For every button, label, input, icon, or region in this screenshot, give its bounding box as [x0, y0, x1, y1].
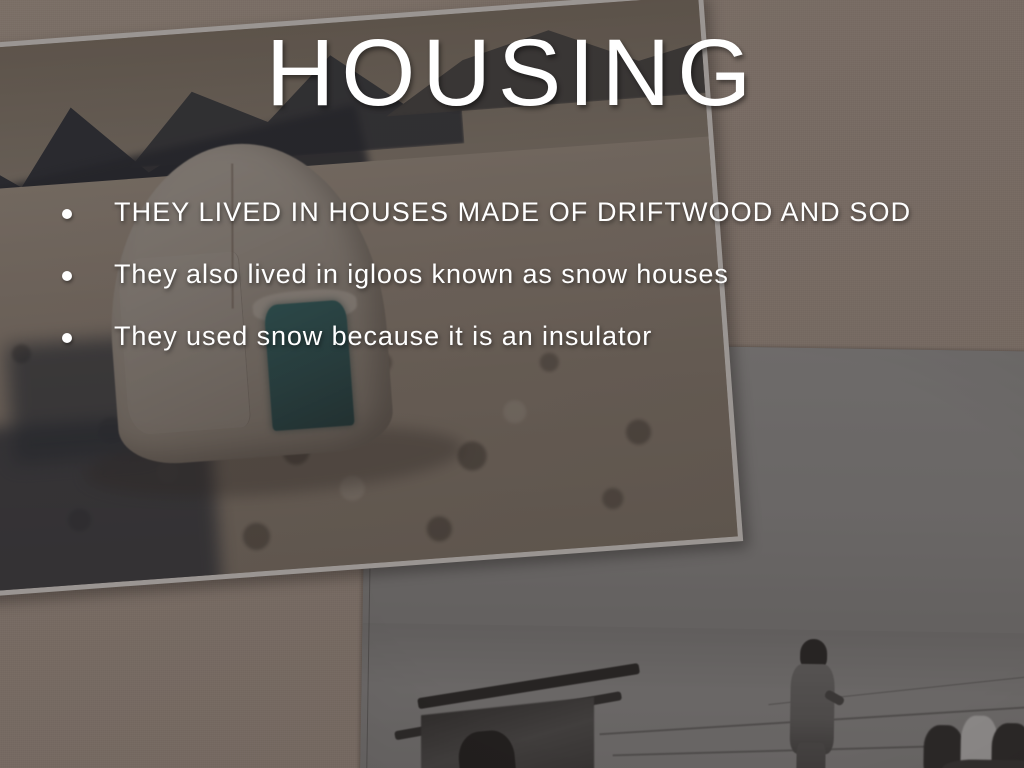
bullet-dot-icon — [62, 333, 72, 343]
list-item: They used snow because it is an insulato… — [62, 320, 1000, 354]
bullet-dot-icon — [62, 271, 72, 281]
list-item: They also lived in igloos known as snow … — [62, 258, 1000, 292]
slide-canvas: HOUSING THEY LIVED IN HOUSES MADE OF DRI… — [0, 0, 1024, 768]
slide-content: HOUSING THEY LIVED IN HOUSES MADE OF DRI… — [0, 0, 1024, 768]
list-item: THEY LIVED IN HOUSES MADE OF DRIFTWOOD A… — [62, 196, 1000, 230]
page-title: HOUSING — [0, 22, 1024, 125]
bullet-text: They used snow because it is an insulato… — [114, 320, 652, 354]
bullet-list: THEY LIVED IN HOUSES MADE OF DRIFTWOOD A… — [62, 196, 1000, 381]
bullet-dot-icon — [62, 209, 72, 219]
bullet-text: They also lived in igloos known as snow … — [114, 258, 729, 292]
bullet-text: THEY LIVED IN HOUSES MADE OF DRIFTWOOD A… — [114, 196, 911, 230]
